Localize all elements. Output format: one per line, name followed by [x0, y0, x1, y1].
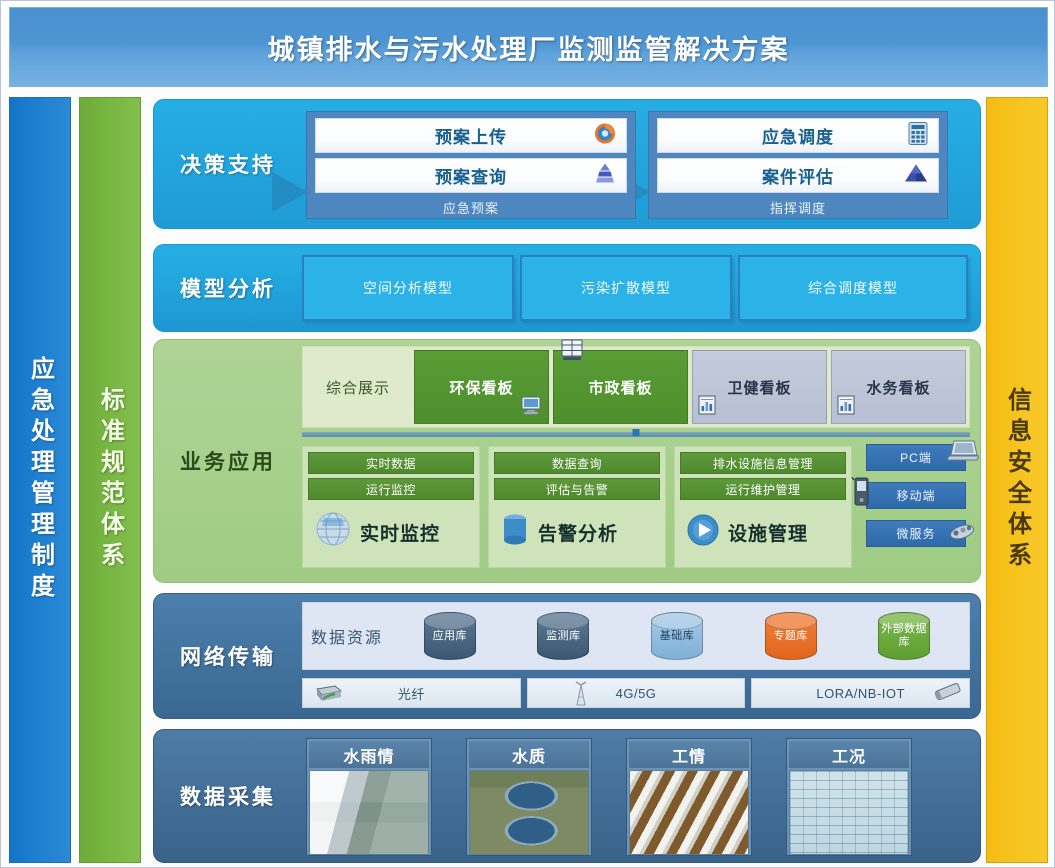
business-column-monitoring: 实时数据 运行监控 实时监控 [302, 446, 480, 568]
business-tab[interactable]: 评估与告警 [494, 478, 660, 500]
business-main-facility-management[interactable]: 设施管理 [680, 506, 846, 558]
desktop-monitor-icon [520, 395, 542, 419]
calculator-grid-icon [907, 121, 929, 150]
chart-page-icon [837, 395, 855, 419]
sidebar-information-security-system: 信息安全体系 [986, 97, 1048, 863]
layer-business-application: 业务应用 综合展示 环保看板 市政看板 [153, 339, 981, 583]
collection-card-operating-condition[interactable]: 工况 [786, 738, 912, 856]
transport-fiber[interactable]: 光纤 [302, 678, 521, 708]
button-case-assessment[interactable]: 案件评估 [657, 158, 939, 193]
business-application-label: 业务应用 [154, 340, 302, 582]
kanban-strip: 综合展示 环保看板 市政看板 [302, 346, 970, 428]
business-column-alarm: 数据查询 评估与告警 告警分析 [488, 446, 666, 568]
decision-group-command-dispatch: 应急调度 案件评估 [648, 111, 948, 219]
kanban-divider [302, 432, 970, 437]
model-box-integrated-dispatch[interactable]: 综合调度模型 [738, 255, 968, 321]
business-tab[interactable]: 排水设施信息管理 [680, 452, 846, 474]
business-main-alarm-analysis[interactable]: 告警分析 [494, 506, 660, 558]
model-analysis-label: 模型分析 [154, 245, 302, 331]
collection-card-title: 工况 [789, 741, 909, 768]
collection-card-hydrology[interactable]: 水雨情 [306, 738, 432, 856]
client-button-pc[interactable]: PC端 [866, 444, 966, 471]
fiber-switch-icon [313, 682, 343, 707]
database-thematic[interactable]: 专题库 [765, 612, 817, 660]
database-monitoring[interactable]: 监测库 [537, 612, 589, 660]
transport-lora-nbiot[interactable]: LORA/NB-IOT [751, 678, 970, 708]
antenna-tower-icon [570, 679, 592, 710]
collection-card-title: 水质 [469, 741, 589, 768]
transport-4g5g[interactable]: 4G/5G [527, 678, 746, 708]
database-external[interactable]: 外部数据库 [878, 612, 930, 660]
pipeline-trench-photo [629, 770, 749, 855]
business-main-realtime-monitoring[interactable]: 实时监控 [308, 506, 474, 558]
pyramid-chart-icon [593, 162, 617, 189]
model-box-spatial-analysis[interactable]: 空间分析模型 [302, 255, 514, 321]
database-cylinder-icon [498, 510, 532, 555]
business-tab[interactable]: 数据查询 [494, 452, 660, 474]
mobile-phone-icon [851, 477, 871, 510]
kanban-card-health[interactable]: 卫健看板 [692, 350, 827, 424]
decision-group-caption: 指挥调度 [657, 198, 939, 217]
kanban-group-label: 综合展示 [306, 350, 410, 424]
database-basic[interactable]: 基础库 [651, 612, 703, 660]
page-title: 城镇排水与污水处理厂监测监管解决方案 [268, 28, 790, 67]
business-tab[interactable]: 运行监控 [308, 478, 474, 500]
kanban-card-municipal[interactable]: 市政看板 [553, 350, 688, 424]
decision-group-emergency-plan: 预案上传 预案查询 [306, 111, 636, 219]
button-plan-query[interactable]: 预案查询 [315, 158, 627, 193]
business-tab[interactable]: 运行维护管理 [680, 478, 846, 500]
sidebar-standard-specification-system: 标准规范体系 [79, 97, 141, 863]
business-tab[interactable]: 实时数据 [308, 452, 474, 474]
arrow-marker-icon [272, 172, 308, 212]
client-button-microservice[interactable]: 微服务 [866, 520, 966, 547]
button-emergency-dispatch[interactable]: 应急调度 [657, 118, 939, 153]
canal-waterway-photo [309, 770, 429, 855]
kanban-card-environmental[interactable]: 环保看板 [414, 350, 549, 424]
microservice-icon [947, 519, 977, 546]
database-application[interactable]: 应用库 [424, 612, 476, 660]
window-grid-icon [560, 339, 584, 365]
laptop-icon [947, 438, 979, 467]
sewage-treatment-tanks-photo [469, 770, 589, 855]
collection-card-water-quality[interactable]: 水质 [466, 738, 592, 856]
layer-decision-support: 决策支持 预案上传 预案查询 [153, 99, 981, 229]
client-endpoints: PC端 移动端 [866, 444, 966, 570]
network-transmission-label: 网络传输 [154, 594, 302, 718]
kanban-card-water-affairs[interactable]: 水务看板 [831, 350, 966, 424]
chart-page-icon [698, 395, 716, 419]
diagram-frame: 城镇排水与污水处理厂监测监管解决方案 应急处理管理制度 标准规范体系 信息安全体… [0, 0, 1055, 868]
decision-group-caption: 应急预案 [315, 198, 627, 217]
collection-card-title: 工情 [629, 741, 749, 768]
data-resource-label: 数据资源 [311, 624, 383, 648]
client-button-mobile[interactable]: 移动端 [866, 482, 966, 509]
model-box-pollution-diffusion[interactable]: 污染扩散模型 [520, 255, 732, 321]
transport-row: 光纤 4G/5G LORA/NB-IOT [302, 678, 970, 708]
scada-schematic-photo [789, 770, 909, 855]
refresh-cycle-icon [593, 121, 617, 150]
business-column-facility: 排水设施信息管理 运行维护管理 设施管理 [674, 446, 852, 568]
globe-icon [312, 509, 354, 556]
pyramid-solid-icon [903, 162, 929, 189]
layer-network-transmission: 网络传输 数据资源 应用库 监测库 基础库 专题库 外部数据库 [153, 593, 981, 719]
data-resource-strip: 数据资源 应用库 监测库 基础库 专题库 外部数据库 [302, 602, 970, 670]
page-title-bar: 城镇排水与污水处理厂监测监管解决方案 [9, 7, 1048, 87]
sensor-module-icon [931, 680, 965, 707]
layer-data-collection: 数据采集 水雨情 水质 工情 工况 [153, 729, 981, 863]
sidebar-emergency-management-system: 应急处理管理制度 [9, 97, 71, 863]
collection-card-engineering[interactable]: 工情 [626, 738, 752, 856]
data-collection-label: 数据采集 [154, 730, 302, 862]
collection-card-title: 水雨情 [309, 741, 429, 768]
button-plan-upload[interactable]: 预案上传 [315, 118, 627, 153]
layer-model-analysis: 模型分析 空间分析模型 污染扩散模型 综合调度模型 [153, 244, 981, 332]
play-circle-icon [684, 511, 722, 554]
